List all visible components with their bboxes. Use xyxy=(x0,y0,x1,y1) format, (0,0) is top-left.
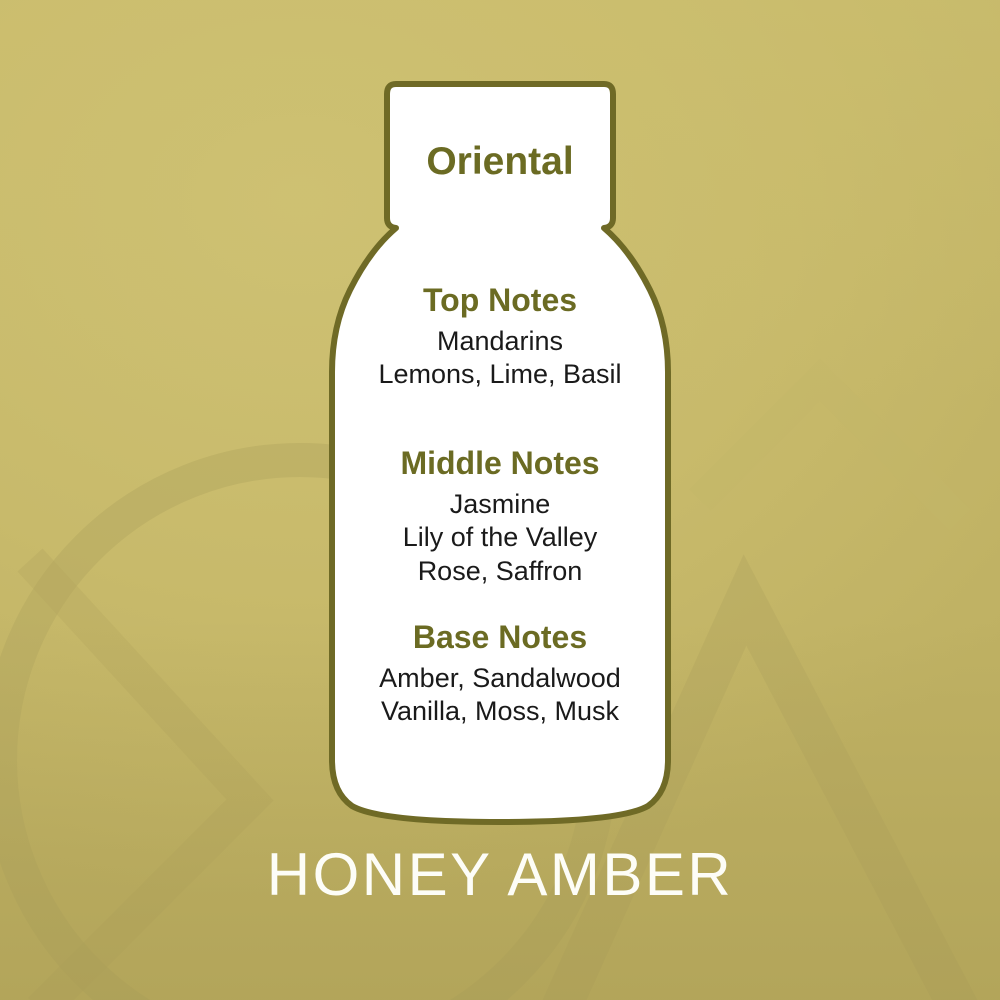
middle-notes-heading: Middle Notes xyxy=(332,446,668,482)
base-notes-block: Base Notes Amber, Sandalwood Vanilla, Mo… xyxy=(332,620,668,729)
middle-notes-line: Lily of the Valley xyxy=(332,521,668,554)
base-notes-list: Amber, Sandalwood Vanilla, Moss, Musk xyxy=(332,662,668,729)
middle-notes-list: Jasmine Lily of the Valley Rose, Saffron xyxy=(332,488,668,588)
product-name: HONEY AMBER xyxy=(0,845,1000,905)
top-notes-heading: Top Notes xyxy=(332,283,668,319)
top-notes-block: Top Notes Mandarins Lemons, Lime, Basil xyxy=(332,283,668,392)
bottle-label-content: Oriental Top Notes Mandarins Lemons, Lim… xyxy=(332,80,668,820)
top-notes-line: Mandarins xyxy=(332,325,668,358)
base-notes-line: Vanilla, Moss, Musk xyxy=(332,695,668,728)
middle-notes-line: Rose, Saffron xyxy=(332,555,668,588)
brand-title: Oriental xyxy=(332,142,668,181)
middle-notes-block: Middle Notes Jasmine Lily of the Valley … xyxy=(332,446,668,588)
middle-notes-line: Jasmine xyxy=(332,488,668,521)
base-notes-heading: Base Notes xyxy=(332,620,668,656)
top-notes-line: Lemons, Lime, Basil xyxy=(332,358,668,391)
base-notes-line: Amber, Sandalwood xyxy=(332,662,668,695)
top-notes-list: Mandarins Lemons, Lime, Basil xyxy=(332,325,668,392)
fragrance-pyramid-graphic: Oriental Top Notes Mandarins Lemons, Lim… xyxy=(0,0,1000,1000)
